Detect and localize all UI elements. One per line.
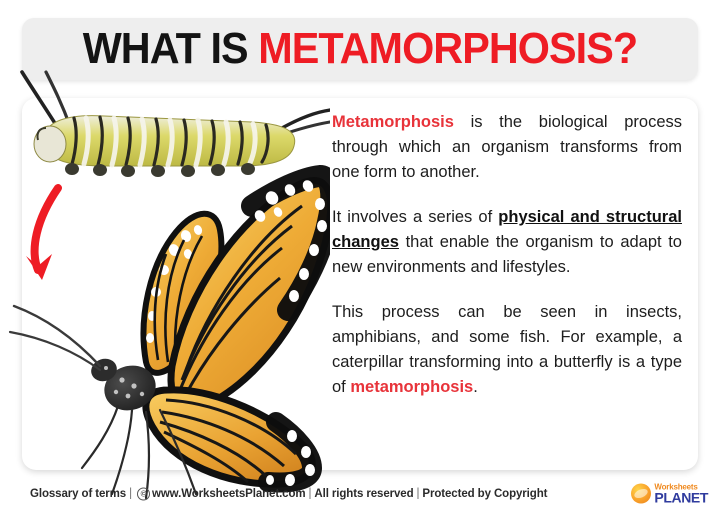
footer-glossary-label: Glossary of terms [30,488,126,500]
term-metamorphosis-highlight: Metamorphosis [332,113,454,131]
footer-rights: All rights reserved [314,488,413,500]
term-metamorphosis-highlight-2: metamorphosis [350,378,473,396]
worksheets-planet-logo[interactable]: Worksheets PLANET [631,483,708,504]
paragraph-definition: Metamorphosis is the biological process … [332,110,682,185]
copyright-icon: © [137,487,150,500]
footer-credits: Glossary of terms|©www.WorksheetsPlanet.… [30,487,547,500]
paragraph-examples-period: . [473,378,478,396]
page-title-card: WHAT IS METAMORPHOSIS? [22,18,698,80]
paragraph-changes-lead: It involves a series of [332,208,498,226]
page-title: WHAT IS METAMORPHOSIS? [83,27,638,71]
planet-swoosh-icon [631,484,651,504]
paragraph-examples: This process can be seen in insects, amp… [332,300,682,400]
footer-website[interactable]: www.WorksheetsPlanet.com [152,488,306,500]
page-title-red-part: METAMORPHOSIS? [258,24,637,73]
paragraph-changes: It involves a series of physical and str… [332,205,682,280]
footer-separator-1: | [126,488,135,500]
logo-bottom-word: PLANET [654,490,708,504]
footer-bar: Glossary of terms|©www.WorksheetsPlanet.… [0,478,720,509]
description-text-column: Metamorphosis is the biological process … [332,110,682,400]
logo-wordmark: Worksheets PLANET [654,483,708,504]
page-title-black-part: WHAT IS [83,24,259,73]
footer-protection: Protected by Copyright [422,488,547,500]
